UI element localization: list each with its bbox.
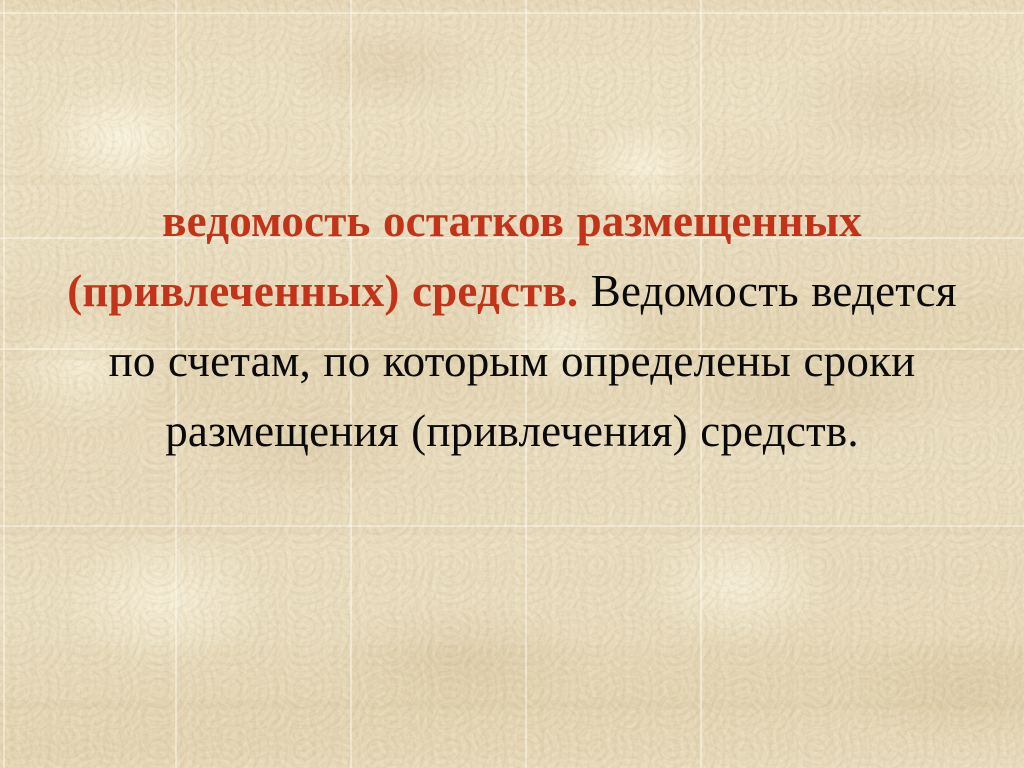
tile-gridline-horizontal: [0, 12, 1024, 14]
slide-canvas: ведомость остатков размещенных (привлече…: [0, 0, 1024, 768]
tile-gridline-horizontal: [0, 525, 1024, 527]
slide-body-text: ведомость остатков размещенных (привлече…: [62, 186, 962, 466]
tile-gridline-vertical: [3, 0, 5, 768]
